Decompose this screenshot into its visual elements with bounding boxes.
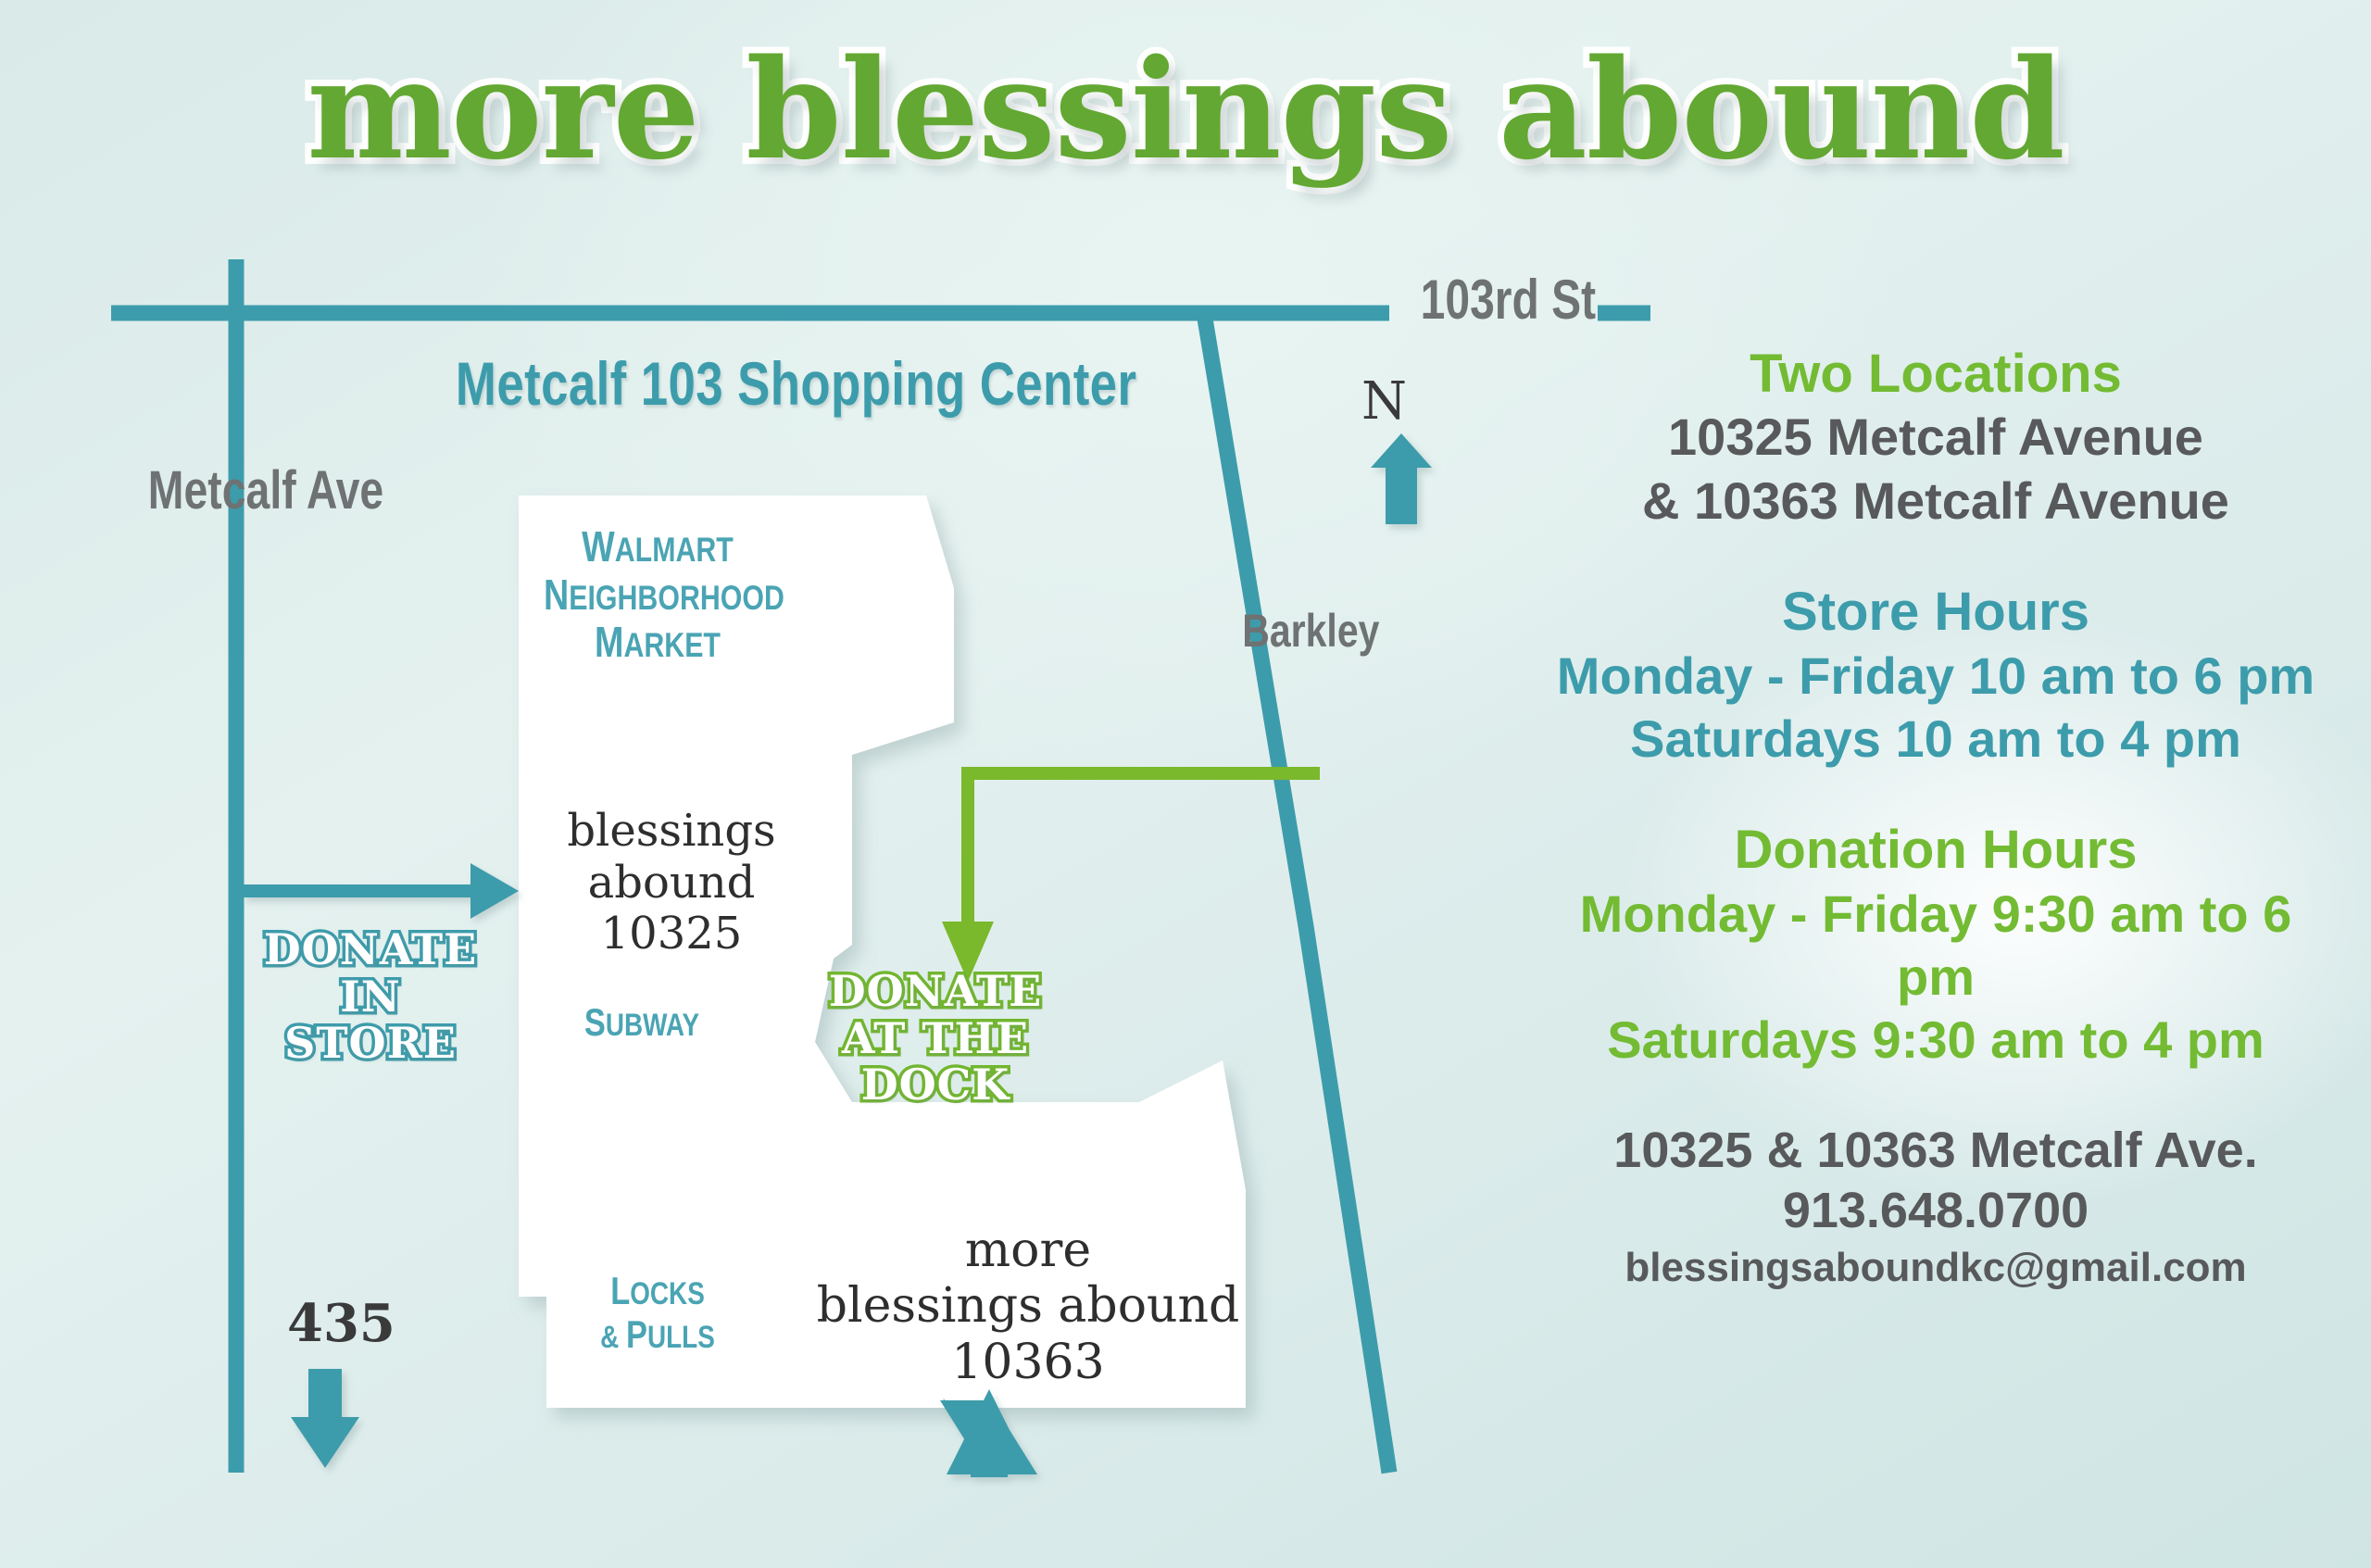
donate-at-dock-line1: DONATE (797, 968, 1074, 1015)
donation-hours-saturday: Saturdays 9:30 am to 4 pm (1537, 1009, 2334, 1072)
subway-line1: SUBWAY (555, 1000, 730, 1044)
contact-email[interactable]: blessingsaboundkc@gmail.com (1537, 1242, 2334, 1293)
donate-in-store-arrow (243, 863, 519, 919)
store-hours-heading: Store Hours (1537, 581, 2334, 644)
contact-block: 10325 & 10363 Metcalf Ave. 913.648.0700 … (1537, 1121, 2334, 1294)
donate-at-dock-line3: DOCK (797, 1061, 1074, 1109)
store-hours-weekday: Monday - Friday 10 am to 6 pm (1537, 645, 2334, 708)
street-label-103rd-st: 103rd St (1421, 270, 1596, 329)
info-panel: Two Locations 10325 Metcalf Avenue & 103… (1537, 343, 2334, 1294)
walmart-line3: MARKET (544, 619, 772, 667)
location-address-2: & 10363 Metcalf Avenue (1537, 470, 2334, 533)
donation-hours-block: Donation Hours Monday - Friday 9:30 am t… (1537, 819, 2334, 1072)
store-10325-line3: 10325 (556, 909, 787, 960)
north-arrow (1371, 433, 1432, 524)
spacer (1537, 1073, 2334, 1121)
street-label-metcalf-ave: Metcalf Ave (148, 463, 383, 520)
donate-in-store-callout: DONATE IN STORE (232, 926, 509, 1067)
poster-canvas: more blessings abound (0, 0, 2371, 1568)
donate-at-dock-arrow (942, 767, 1320, 982)
walmart-line2: NEIGHBORHOOD (544, 571, 772, 620)
store-label-10363: more blessings abound 10363 (769, 1223, 1287, 1390)
store-10325-line1: blessings (556, 806, 787, 858)
location-address-1: 10325 Metcalf Avenue (1537, 406, 2334, 469)
locations-heading: Two Locations (1537, 343, 2334, 406)
store-10363-line3: 10363 (769, 1335, 1287, 1390)
north-label: N (1361, 375, 1407, 430)
donation-hours-weekday: Monday - Friday 9:30 am to 6 pm (1537, 883, 2334, 1010)
donate-in-store-line3: STORE (232, 1020, 509, 1067)
donation-hours-heading: Donation Hours (1537, 819, 2334, 882)
spacer (1537, 533, 2334, 581)
contact-phone[interactable]: 913.648.0700 (1537, 1181, 2334, 1242)
store-10325-line2: abound (556, 858, 787, 909)
locks-line2: & PULLS (574, 1312, 741, 1356)
donate-in-store-line2: IN (232, 973, 509, 1021)
shopping-center-label: Metcalf 103 Shopping Center (456, 352, 1136, 416)
store-hours-block: Store Hours Monday - Friday 10 am to 6 p… (1537, 581, 2334, 771)
locks-line1: LOCKS (574, 1269, 741, 1312)
donate-at-dock-callout: DONATE AT THE DOCK (797, 968, 1074, 1109)
donate-in-store-line1: DONATE (232, 926, 509, 973)
tenant-label-subway: SUBWAY (555, 1000, 730, 1044)
route-label-435: 435 (287, 1297, 395, 1351)
contact-address: 10325 & 10363 Metcalf Ave. (1537, 1121, 2334, 1182)
tenant-label-walmart: WALMARTNEIGHBORHOODMARKET (544, 523, 772, 667)
tenant-label-locks-and-pulls: LOCKS& PULLS (574, 1269, 741, 1356)
store-10363-line1: more (769, 1223, 1287, 1278)
store-10363-line2: blessings abound (769, 1278, 1287, 1334)
store-label-10325: blessings abound 10325 (556, 806, 787, 960)
walmart-line1: WALMART (544, 523, 772, 571)
route-435-arrow (291, 1369, 359, 1468)
spacer (1537, 771, 2334, 819)
street-label-barkley: Barkley (1242, 607, 1379, 656)
donate-at-dock-line2: AT THE (797, 1015, 1074, 1062)
store-hours-saturday: Saturdays 10 am to 4 pm (1537, 708, 2334, 771)
locations-block: Two Locations 10325 Metcalf Avenue & 103… (1537, 343, 2334, 533)
